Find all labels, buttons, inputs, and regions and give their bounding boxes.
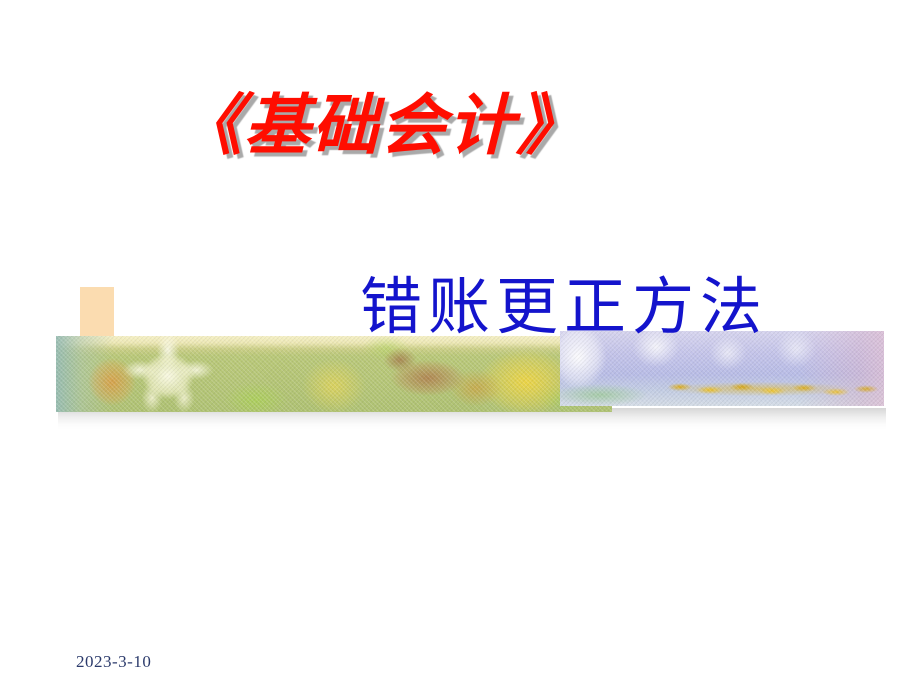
page-subtitle: 错账更正方法	[360, 256, 768, 346]
peach-accent-block	[80, 287, 114, 381]
slide-date: 2023-3-10	[76, 652, 151, 672]
band-drop-shadow	[58, 408, 886, 430]
page-title: 《基础会计》	[0, 88, 760, 164]
autumn-leaves-image	[56, 336, 612, 412]
presentation-slide: 《基础会计》 错账更正方法 2023-3-10	[0, 0, 920, 690]
